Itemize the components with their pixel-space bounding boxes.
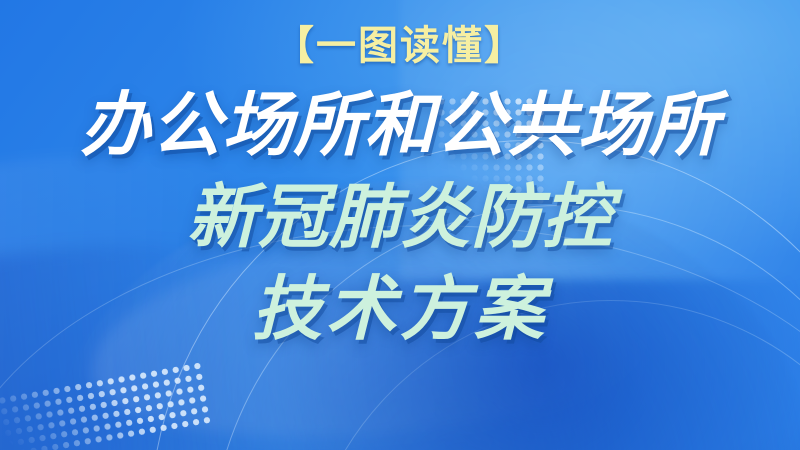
poster-canvas: 【一图读懂】 办公场所和公共场所 新冠肺炎防控 技术方案 bbox=[0, 0, 800, 450]
poster-content: 【一图读懂】 办公场所和公共场所 新冠肺炎防控 技术方案 bbox=[0, 0, 800, 450]
title-line-1: 办公场所和公共场所 bbox=[81, 90, 720, 160]
title-line-2: 新冠肺炎防控 bbox=[187, 182, 613, 252]
kicker-label: 【一图读懂】 bbox=[274, 26, 526, 66]
title-line-3: 技术方案 bbox=[252, 274, 548, 344]
